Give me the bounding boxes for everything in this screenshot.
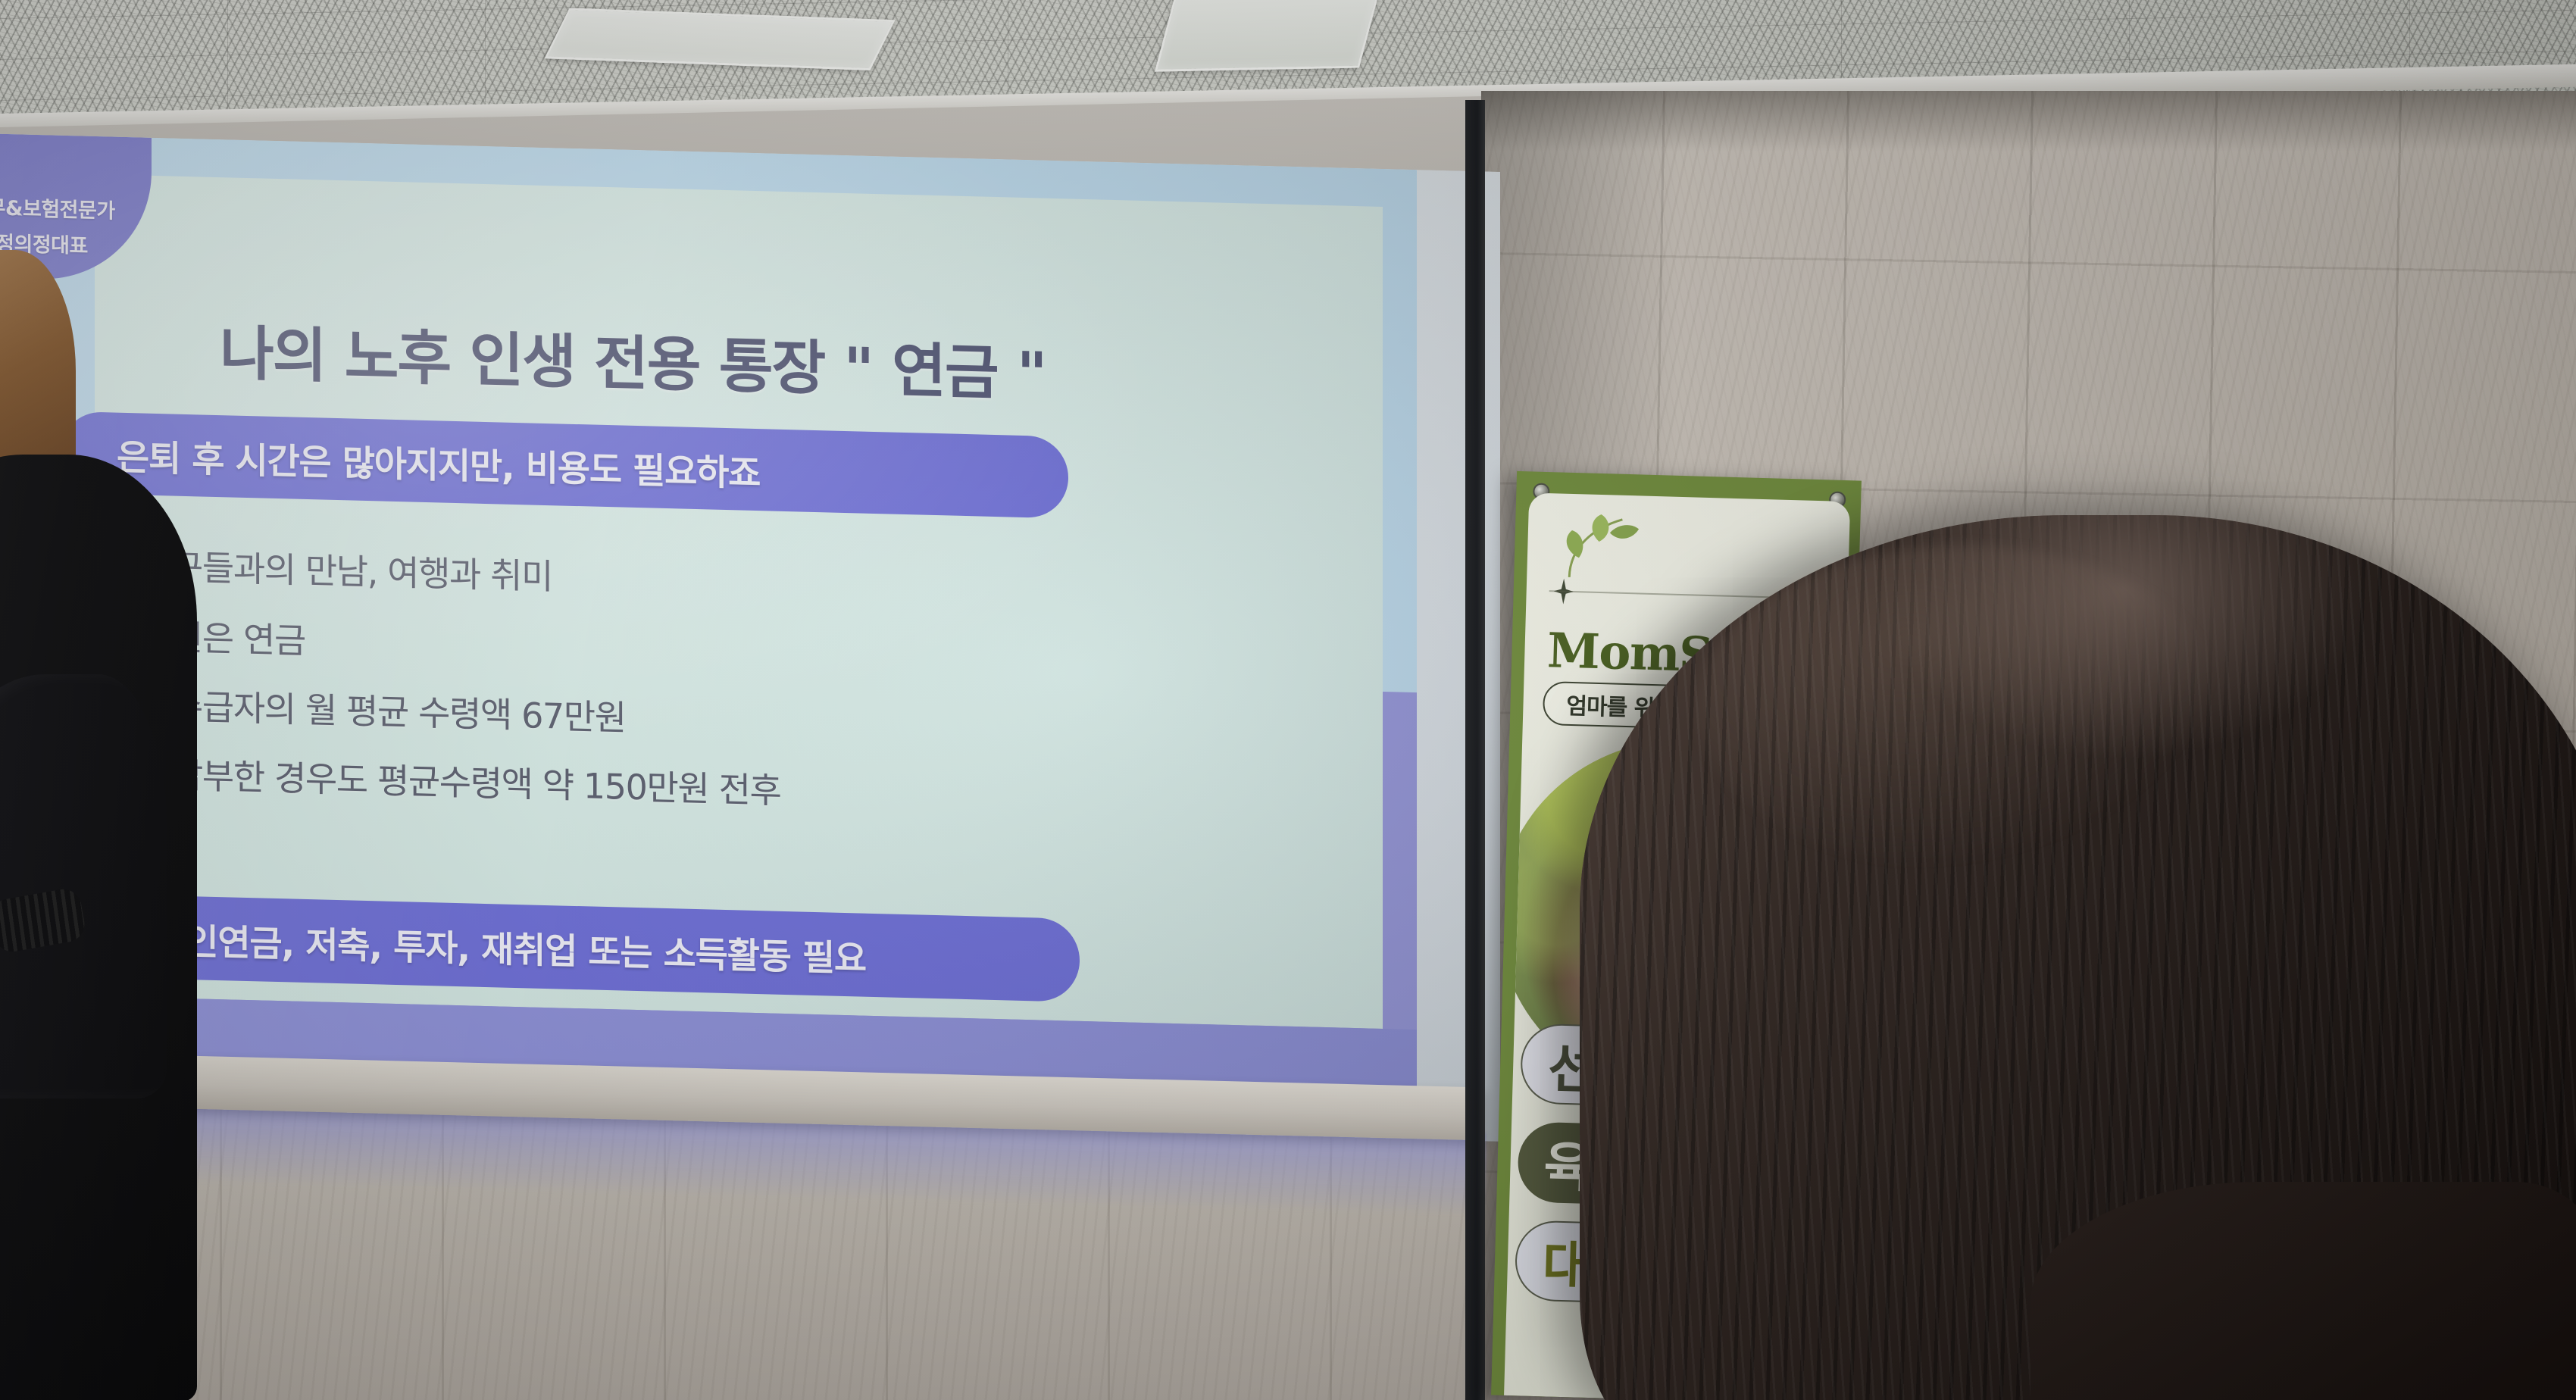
ceiling-light-panel-left	[544, 8, 895, 70]
ceiling-light-panel-right	[1155, 0, 1383, 72]
photo-scene: 재무&보험전문가 정의정대표 나의 노후 인생 전용 통장 " 연금 " 은퇴 …	[0, 0, 2576, 1400]
audience-hair-highlight	[1697, 545, 2227, 871]
presenter-figure	[0, 250, 288, 1400]
presenter-arm	[0, 674, 167, 1098]
badge-line-1: 재무&보험전문가	[0, 191, 115, 224]
leaf-icon	[1555, 507, 1649, 585]
screen-right-edge-shadow	[1465, 100, 1485, 1400]
audience-shoulder	[2030, 1182, 2576, 1400]
